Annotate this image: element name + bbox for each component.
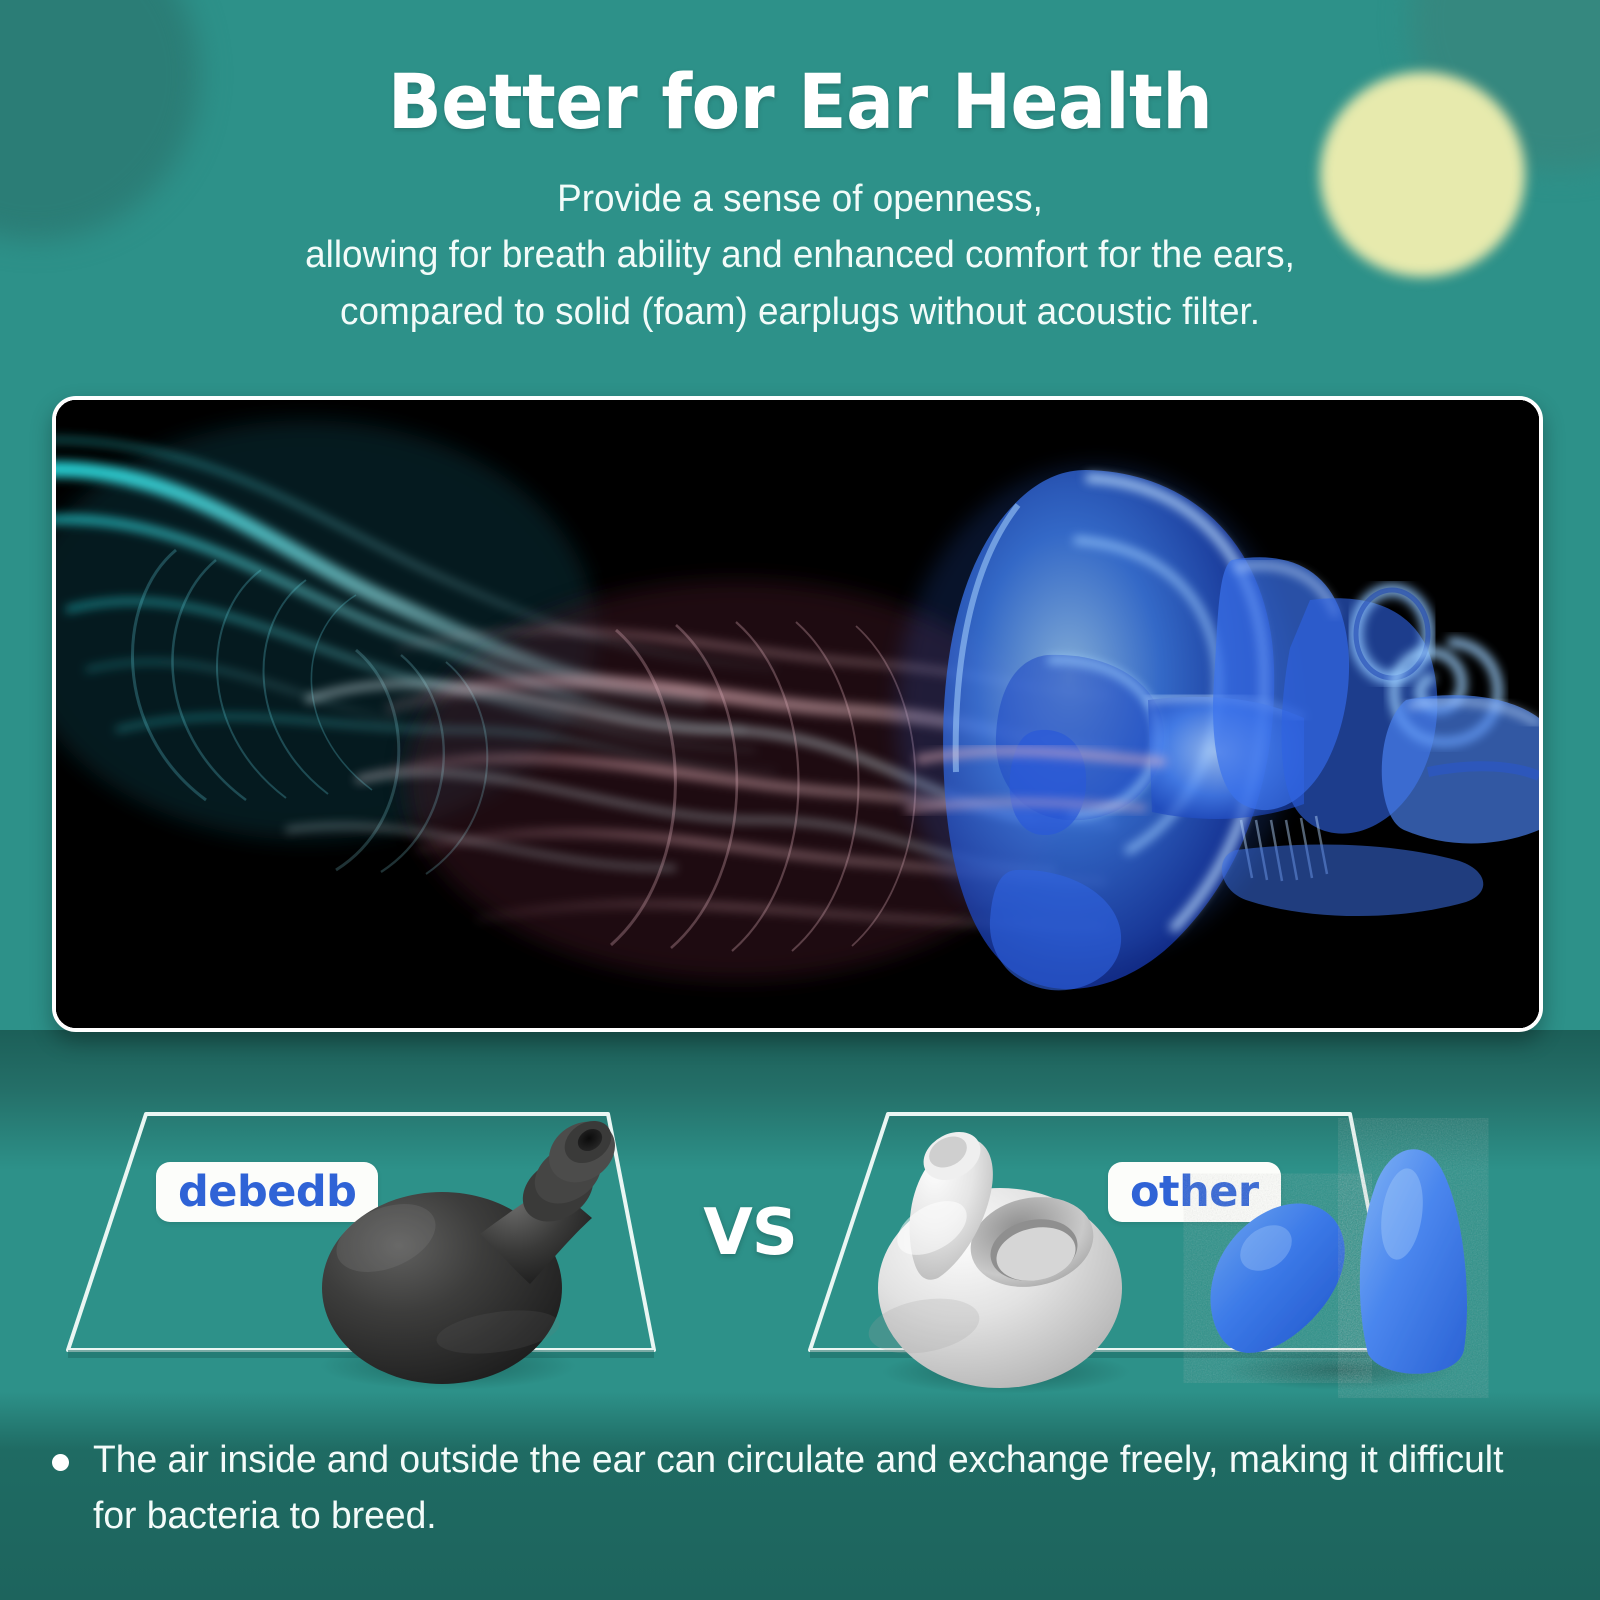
infographic-page: Better for Ear Health Provide a sense of… — [0, 0, 1600, 1600]
subtitle-line-3: compared to solid (foam) earplugs withou… — [24, 284, 1576, 340]
benefit-bullet: The air inside and outside the ear can c… — [52, 1432, 1540, 1544]
bullet-text: The air inside and outside the ear can c… — [93, 1432, 1511, 1544]
brand-label-other: other — [1108, 1162, 1281, 1222]
subtitle-line-1: Provide a sense of openness, — [24, 171, 1576, 227]
page-title: Better for Ear Health — [56, 62, 1544, 141]
vs-label: VS — [690, 1196, 810, 1270]
hero-image-card — [52, 396, 1543, 1032]
bullet-dot-icon — [52, 1454, 69, 1471]
brand-label-debedb: debedb — [156, 1162, 378, 1222]
comparison-panel-right: other — [790, 1100, 1410, 1368]
subtitle: Provide a sense of openness, allowing fo… — [24, 171, 1576, 340]
header: Better for Ear Health Provide a sense of… — [0, 62, 1600, 340]
subtitle-line-2: allowing for breath ability and enhanced… — [24, 227, 1576, 283]
comparison-panel-left: debedb — [48, 1100, 668, 1368]
ear-anatomy-image — [56, 400, 1539, 1028]
